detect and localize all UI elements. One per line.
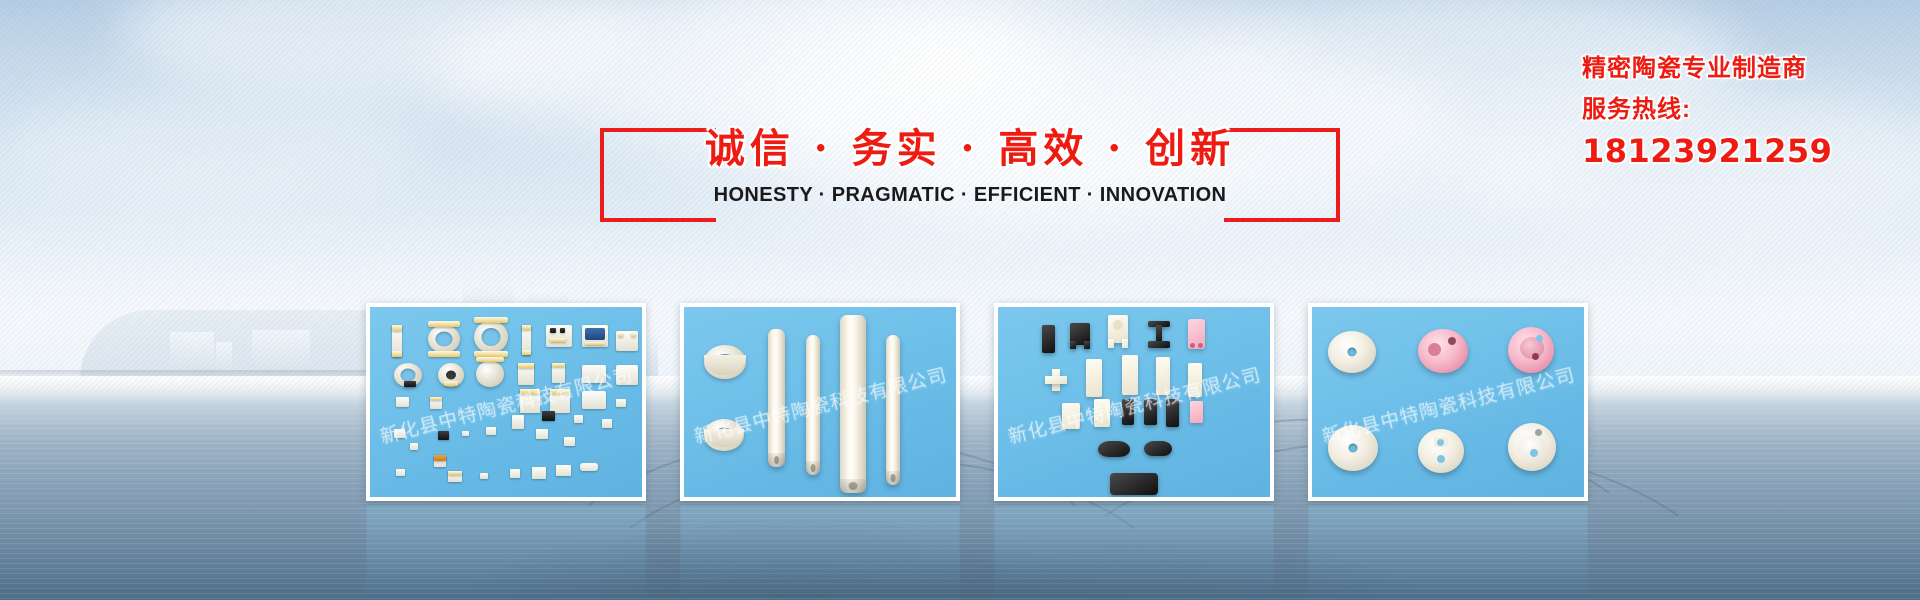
panel-background: 新化县中特陶瓷科技有限公司 bbox=[1312, 307, 1584, 497]
product-panel-row: 新化县中特陶瓷科技有限公司 bbox=[366, 303, 1588, 501]
product-panel-1[interactable]: 新化县中特陶瓷科技有限公司 bbox=[366, 303, 646, 501]
product-panel-2[interactable]: 新化县中特陶瓷科技有限公司 bbox=[680, 303, 960, 501]
panel-background: 新化县中特陶瓷科技有限公司 bbox=[370, 307, 642, 497]
slogan-block: 诚信 · 务实 · 高效 · 创新 HONESTY · PRAGMATIC · … bbox=[600, 128, 1340, 214]
panel-background: 新化县中特陶瓷科技有限公司 bbox=[998, 307, 1270, 497]
company-tagline: 精密陶瓷专业制造商 bbox=[1582, 52, 1912, 86]
hotline-number[interactable]: 18123921259 bbox=[1582, 130, 1912, 172]
product-panel-4[interactable]: 新化县中特陶瓷科技有限公司 bbox=[1308, 303, 1588, 501]
hotline-label: 服务热线: bbox=[1582, 90, 1912, 130]
slogan-english: HONESTY · PRAGMATIC · EFFICIENT · INNOVA… bbox=[600, 182, 1340, 208]
panel-reflection bbox=[680, 505, 960, 600]
hero-banner: 诚信 · 务实 · 高效 · 创新 HONESTY · PRAGMATIC · … bbox=[0, 0, 1920, 600]
panel-background: 新化县中特陶瓷科技有限公司 bbox=[684, 307, 956, 497]
panel-reflection bbox=[366, 505, 646, 600]
slogan-chinese: 诚信 · 务实 · 高效 · 创新 bbox=[600, 120, 1340, 178]
product-panel-3[interactable]: 新化县中特陶瓷科技有限公司 bbox=[994, 303, 1274, 501]
panel-reflection bbox=[994, 505, 1274, 600]
panel-reflection bbox=[1308, 505, 1588, 600]
cloud-shape bbox=[0, 90, 420, 210]
contact-block: 精密陶瓷专业制造商 服务热线: 18123921259 bbox=[1582, 52, 1912, 172]
